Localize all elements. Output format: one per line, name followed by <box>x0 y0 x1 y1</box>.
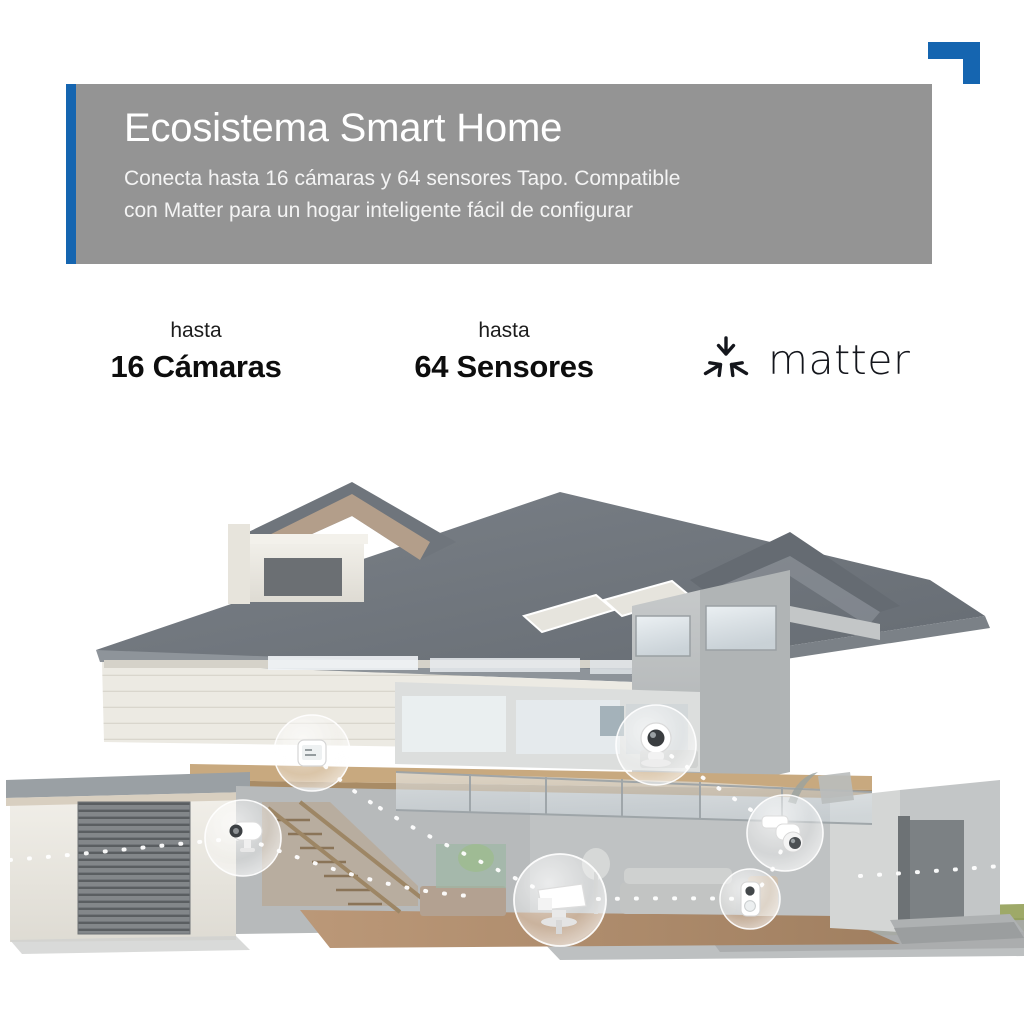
page-root: Ecosistema Smart Home Conecta hasta 16 c… <box>0 0 1024 1024</box>
stat-cameras-value: 16 Cámaras <box>66 348 326 385</box>
door-frame <box>898 816 910 924</box>
device-bubble-living-room-camera <box>514 854 606 946</box>
stat-cameras: hasta 16 Cámaras <box>66 318 326 385</box>
device-bubble-video-doorbell <box>720 869 780 929</box>
device-bubble-indoor-sensor <box>274 715 350 791</box>
device-bubble-upstairs-pan-tilt-camera <box>616 705 696 785</box>
video-doorbell-icon <box>741 882 760 916</box>
matter-wordmark: matter <box>768 340 910 381</box>
stat-cameras-qualifier: hasta <box>66 318 326 344</box>
pan-tilt-camera-icon <box>641 723 671 767</box>
tv-console <box>420 886 506 916</box>
temperature-humidity-sensor-icon <box>298 740 326 766</box>
corner-bracket-vertical <box>963 42 980 84</box>
plant <box>458 844 494 872</box>
banner-subtitle-line-2: con Matter para un hogar inteligente fác… <box>124 195 906 227</box>
upper-interior-window-1 <box>402 696 506 752</box>
banner-subtitle-line-1: Conecta hasta 16 cámaras y 64 sensores T… <box>124 163 906 195</box>
smart-home-illustration <box>0 420 1024 1024</box>
upper-window-right <box>706 606 776 650</box>
stat-sensors: hasta 64 Sensores <box>374 318 634 385</box>
device-bubble-outdoor-ptz-camera <box>747 795 823 871</box>
terrace-chair <box>818 772 854 804</box>
stat-sensors-qualifier: hasta <box>374 318 634 344</box>
page-title: Ecosistema Smart Home <box>124 106 906 151</box>
corner-bracket-icon <box>928 42 980 84</box>
banner-text-block: Ecosistema Smart Home Conecta hasta 16 c… <box>76 84 932 264</box>
upper-right-wall-b <box>700 570 790 792</box>
chimney <box>228 524 250 604</box>
stat-sensors-value: 64 Sensores <box>374 348 634 385</box>
device-bubble-garage-bullet-camera <box>205 800 281 876</box>
header-banner: Ecosistema Smart Home Conecta hasta 16 c… <box>66 84 932 264</box>
matter-logo: matter <box>700 330 915 390</box>
upper-window-left <box>636 616 690 656</box>
banner-accent-bar <box>66 84 76 264</box>
matter-logo-icon <box>700 335 752 385</box>
garage-roller-door <box>78 802 190 934</box>
